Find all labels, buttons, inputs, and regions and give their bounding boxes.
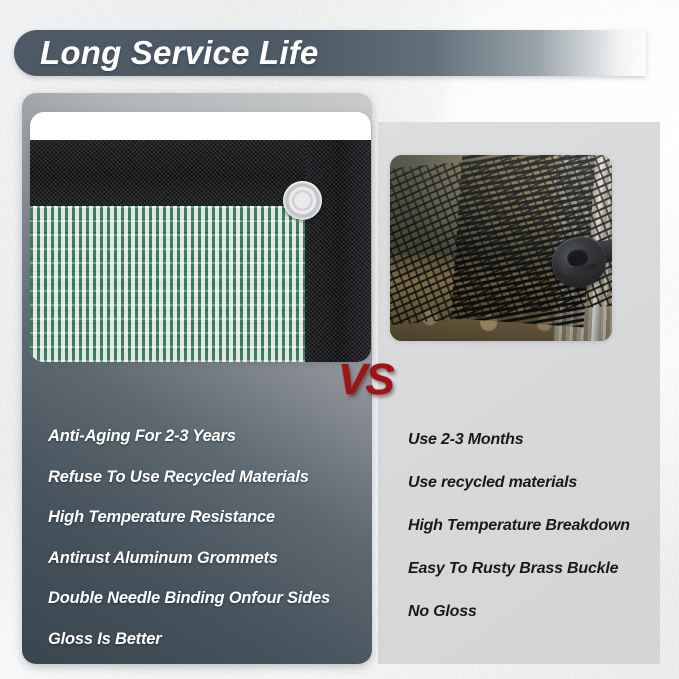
competitor-product-photo [390, 155, 612, 341]
photo-shading [390, 155, 612, 341]
feature-item: Use 2-3 Months [408, 432, 664, 448]
feature-item: Gloss Is Better [48, 631, 360, 648]
vs-badge: VS [338, 358, 393, 402]
aluminum-grommet-icon [283, 181, 322, 220]
our-product-photo [30, 140, 371, 362]
feature-item: Easy To Rusty Brass Buckle [408, 561, 664, 577]
feature-item: High Temperature Resistance [48, 509, 360, 526]
feature-item: Anti-Aging For 2-3 Years [48, 428, 360, 445]
black-binding-edge-right [305, 140, 371, 362]
our-product-feature-list: Anti-Aging For 2-3 Years Refuse To Use R… [48, 428, 360, 671]
page-title: Long Service Life [40, 30, 318, 76]
feature-item: Double Needle Binding Onfour Sides [48, 590, 360, 607]
feature-item: Antirust Aluminum Grommets [48, 550, 360, 567]
feature-item: Refuse To Use Recycled Materials [48, 469, 360, 486]
feature-item: Use recycled materials [408, 475, 664, 491]
feature-item: No Gloss [408, 604, 664, 620]
competitor-feature-list: Use 2-3 Months Use recycled materials Hi… [408, 432, 664, 647]
feature-item: High Temperature Breakdown [408, 518, 664, 534]
green-shade-cloth-mesh [30, 206, 305, 362]
